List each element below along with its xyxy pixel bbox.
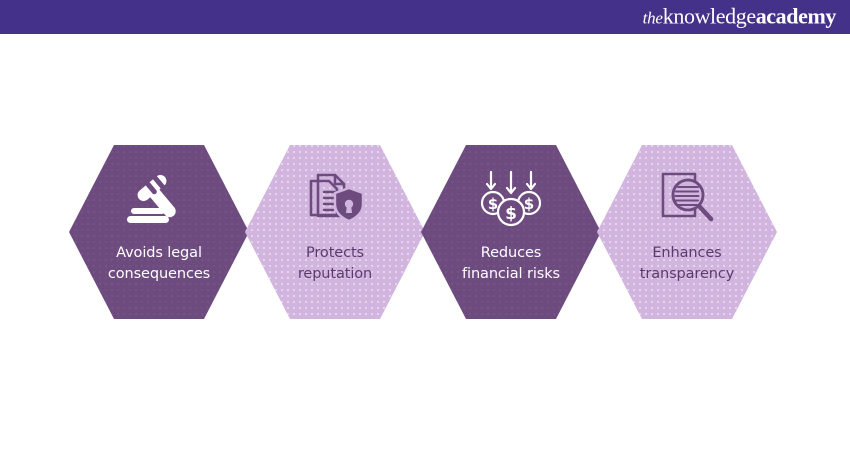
hexagon-item-enhances-transparency[interactable]: Enhances transparency bbox=[597, 145, 777, 319]
hexagon-label: Protects reputation bbox=[260, 243, 410, 286]
documents-shield-lock-icon bbox=[295, 171, 375, 227]
svg-text:$: $ bbox=[488, 195, 498, 213]
hexagon-label: Reduces financial risks bbox=[436, 243, 586, 286]
the-knowledge-academy-logo[interactable]: theknowledgeacademy bbox=[643, 6, 836, 28]
hexagon-item-reduces-financial-risks[interactable]: $ $ $ Reduces financial risks bbox=[421, 145, 601, 319]
hexagon-label: Enhances transparency bbox=[612, 243, 762, 286]
logo-text-the: the bbox=[643, 9, 663, 28]
hexagon-item-avoids-legal-consequences[interactable]: Avoids legal consequences bbox=[69, 145, 249, 319]
hexagon-label: Avoids legal consequences bbox=[84, 243, 234, 286]
gavel-icon bbox=[119, 171, 199, 227]
document-magnifier-icon bbox=[647, 171, 727, 227]
hexagon-item-protects-reputation[interactable]: Protects reputation bbox=[245, 145, 425, 319]
header-bar: theknowledgeacademy bbox=[0, 0, 850, 34]
logo-text-academy: academy bbox=[756, 4, 836, 29]
svg-text:$: $ bbox=[524, 195, 534, 213]
svg-text:$: $ bbox=[505, 204, 517, 224]
falling-coins-dollar-icon: $ $ $ bbox=[471, 171, 551, 227]
benefits-hexagon-row: Avoids legal consequences bbox=[0, 145, 850, 320]
logo-text-knowledge: knowledge bbox=[663, 4, 756, 29]
